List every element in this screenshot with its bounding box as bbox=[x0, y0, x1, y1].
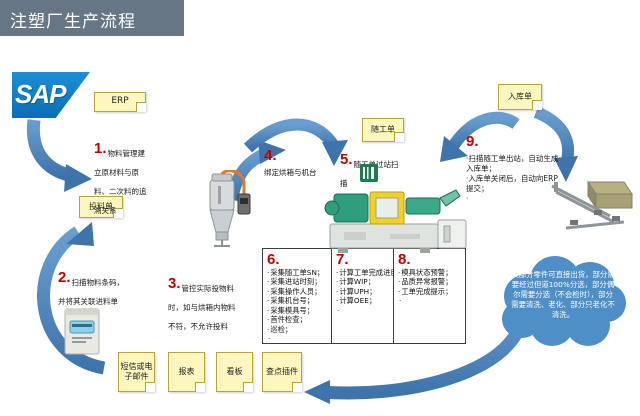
material-bag-image bbox=[62, 305, 102, 357]
note-stock-in-order-label: 入库单 bbox=[508, 92, 532, 102]
step-2: 2.扫描物料条码，并将其关联进料单 bbox=[58, 270, 128, 308]
step-5-number: 5. bbox=[340, 152, 353, 167]
note-fold-icon bbox=[136, 102, 146, 112]
list-item: 模具状态预警； bbox=[398, 268, 461, 277]
box-7: 7. 计算工单完成进度； 计算WIP； 计算UPH； 计算OEE； · bbox=[332, 248, 394, 344]
list-item: 采集进站时刻； bbox=[267, 277, 327, 286]
note-kanban-label: 看板 bbox=[227, 367, 243, 377]
note-fold-icon bbox=[292, 382, 302, 392]
note-erp[interactable]: ERP bbox=[94, 92, 146, 112]
list-item: 采集机台号； bbox=[267, 296, 327, 305]
list-item: 品质异常报警； bbox=[398, 277, 461, 286]
note-sms-email[interactable]: 短信或电子邮件 bbox=[118, 352, 155, 392]
note-report-label: 报表 bbox=[179, 367, 195, 377]
note-query-plugin-label: 查点插件 bbox=[266, 367, 298, 377]
step-1: 1.物料管理建立原材料与原料、二次料的追溯关系 bbox=[94, 141, 148, 217]
sap-logo: SAP bbox=[12, 72, 90, 118]
step-9-number: 9. bbox=[466, 134, 479, 149]
sap-logo-text: SAP bbox=[15, 79, 65, 110]
step-3: 3.管控实际投物料时，如与烘箱内物料不符，不允许投料 bbox=[168, 276, 240, 333]
list-item: 计算WIP； bbox=[336, 277, 389, 286]
conveyor-warehouse-image bbox=[548, 176, 636, 238]
box-8-list: 模具状态预警； 品质异常报警； 工单完成提示； · bbox=[398, 268, 461, 306]
step-1-number: 1. bbox=[94, 141, 107, 156]
list-item: 工单完成提示； bbox=[398, 287, 461, 296]
diagram-canvas: 注塑厂生产流程 SAP ERP 投料单 随工单 入库单 短信或电子邮件 报表 看… bbox=[0, 0, 640, 416]
list-item: · bbox=[267, 334, 327, 343]
note-fold-icon bbox=[195, 382, 205, 392]
title-bar: 注塑厂生产流程 bbox=[0, 0, 184, 36]
note-fold-icon bbox=[243, 382, 253, 392]
box-6: 6. 采集随工单SN； 采集进站时刻； 采集操作人员； 采集机台号； 采集模具号… bbox=[262, 248, 332, 344]
note-fold-icon bbox=[145, 382, 155, 392]
note-fold-icon bbox=[394, 132, 404, 142]
note-fold-icon bbox=[532, 100, 542, 110]
box-8: 8. 模具状态预警； 品质异常报警； 工单完成提示； · bbox=[394, 248, 466, 344]
step-2-number: 2. bbox=[58, 270, 71, 285]
dryer-hopper-image bbox=[196, 170, 258, 250]
list-item: 采集模具号； bbox=[267, 306, 327, 315]
note-sms-email-label: 短信或电子邮件 bbox=[120, 362, 153, 383]
cloud-callout: 大部分零件可直接出货，部分需要经过但道100%分选，部分偶尔需要分选（不会检时）… bbox=[496, 248, 630, 352]
step-4-text: 绑定烘箱与机台 bbox=[264, 168, 350, 178]
list-item: 计算工单完成进度； bbox=[336, 268, 389, 277]
list-item: 计算UPH； bbox=[336, 287, 389, 296]
note-erp-label: ERP bbox=[111, 96, 128, 107]
list-item: 首件检查； bbox=[267, 315, 327, 324]
arrow-dryer-side bbox=[150, 236, 166, 302]
cloud-text: 大部分零件可直接出货，部分需要经过但道100%分选，部分偶尔需要分选（不会检时）… bbox=[510, 270, 616, 320]
list-item: · bbox=[336, 306, 389, 315]
list-item: 采集随工单SN； bbox=[267, 268, 327, 277]
note-report[interactable]: 报表 bbox=[168, 352, 205, 392]
page-title: 注塑厂生产流程 bbox=[10, 7, 136, 32]
list-item: 采集操作人员； bbox=[267, 287, 327, 296]
barcode-scanner-icon bbox=[358, 162, 380, 184]
list-item: 巡检； bbox=[267, 325, 327, 334]
list-item: · bbox=[398, 296, 461, 305]
step-1-text: 物料管理建立原材料与原料、二次料的追溯关系 bbox=[94, 149, 147, 215]
note-work-order[interactable]: 随工单 bbox=[362, 118, 404, 142]
note-stock-in-order[interactable]: 入库单 bbox=[498, 84, 542, 110]
box-6-list: 采集随工单SN； 采集进站时刻； 采集操作人员； 采集机台号； 采集模具号； 首… bbox=[267, 268, 327, 344]
sap-logo-dot bbox=[74, 105, 77, 108]
box-7-list: 计算工单完成进度； 计算WIP； 计算UPH； 计算OEE； · bbox=[336, 268, 389, 315]
note-work-order-label: 随工单 bbox=[371, 125, 395, 135]
note-kanban[interactable]: 看板 bbox=[216, 352, 253, 392]
step-4: 4. 绑定烘箱与机台 bbox=[264, 148, 350, 178]
box-6-number: 6. bbox=[267, 252, 327, 267]
list-item: 计算OEE； bbox=[336, 296, 389, 305]
step-4-number: 4. bbox=[264, 148, 277, 163]
arrow-sap-to-feed bbox=[33, 120, 92, 192]
injection-molding-machine-image bbox=[320, 180, 472, 258]
step-3-number: 3. bbox=[168, 276, 181, 291]
note-query-plugin[interactable]: 查点插件 bbox=[262, 352, 302, 392]
